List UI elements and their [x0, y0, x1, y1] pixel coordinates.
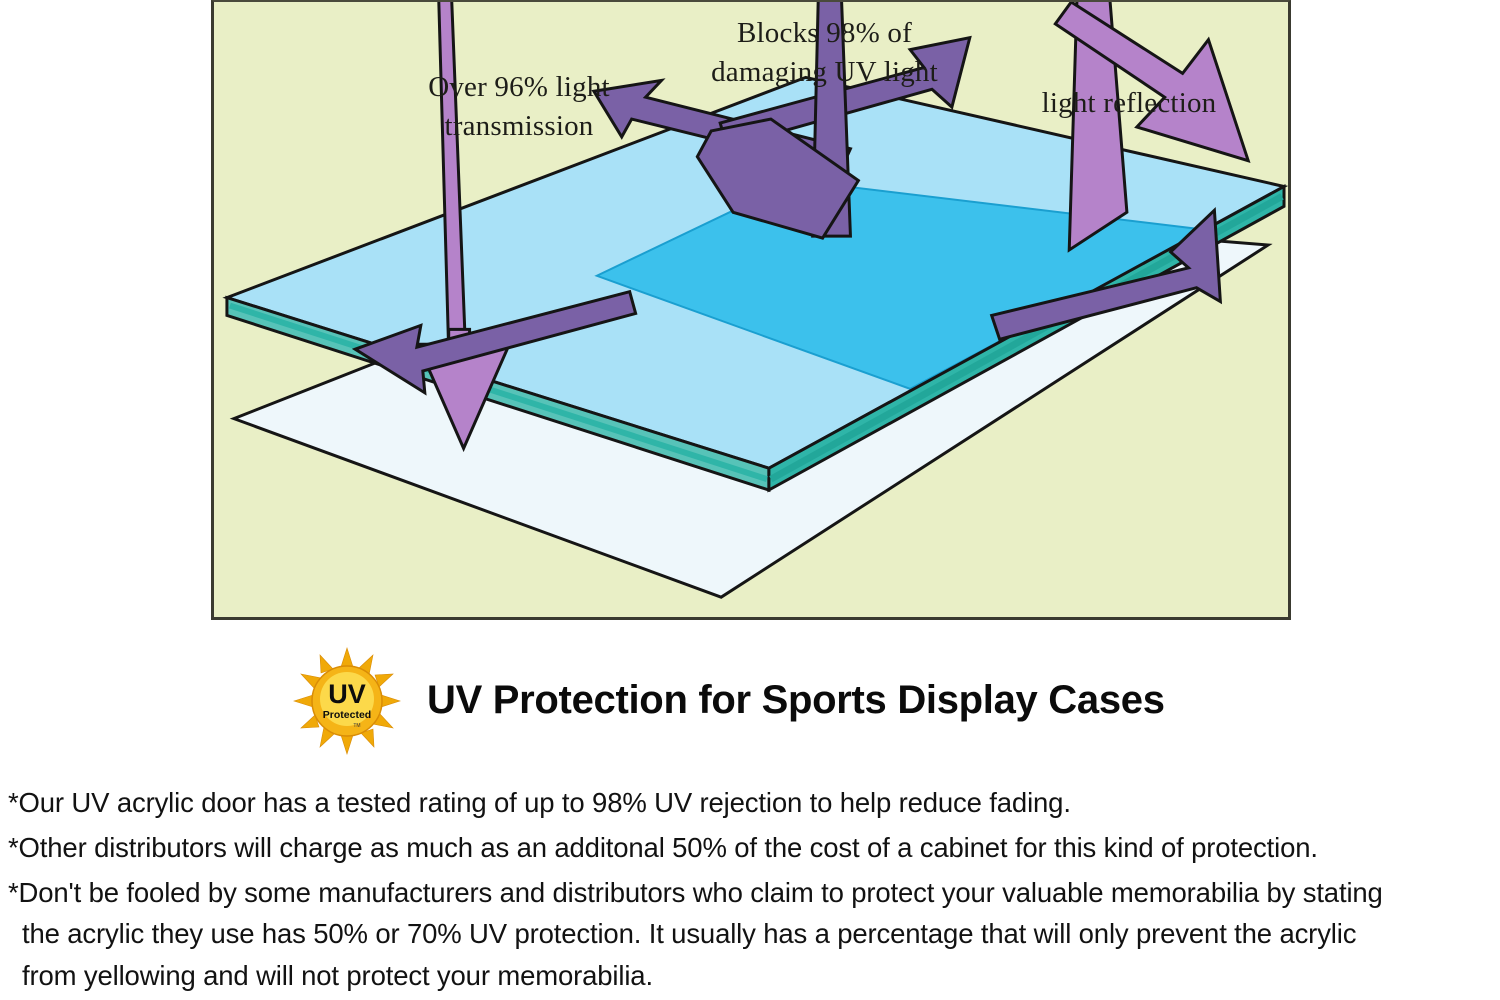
callout-light-transmission: Over 96% light transmission [394, 68, 644, 146]
uv-protected-sun-badge: UV Protected TM [293, 647, 401, 755]
disclaimer-notes: *Our UV acrylic door has a tested rating… [8, 782, 1498, 1000]
uv-badge-bottom-text: Protected [323, 709, 371, 721]
uv-badge-tm-text: TM [353, 723, 360, 729]
note-line: the acrylic they use has 50% or 70% UV p… [8, 913, 1498, 955]
page-title: UV Protection for Sports Display Cases [427, 678, 1165, 723]
note-line: from yellowing and will not protect your… [8, 955, 1498, 997]
uv-diagram-panel: Over 96% light transmission Blocks 98% o… [211, 0, 1291, 620]
title-row: UV Protected TM UV Protection for Sports… [293, 643, 1165, 758]
note-paragraph: *Don't be fooled by some manufacturers a… [8, 872, 1498, 997]
note-paragraph: *Our UV acrylic door has a tested rating… [8, 782, 1498, 824]
uv-badge-top-text: UV [328, 679, 366, 709]
note-line: *Other distributors will charge as much … [8, 832, 1318, 863]
sun-icon: UV Protected TM [293, 647, 401, 755]
note-paragraph: *Other distributors will charge as much … [8, 827, 1498, 869]
callout-light-reflection: light reflection [994, 84, 1264, 123]
callout-uv-blocking: Blocks 98% of damaging UV light [687, 14, 962, 92]
note-line: *Our UV acrylic door has a tested rating… [8, 787, 1071, 818]
note-line: *Don't be fooled by some manufacturers a… [8, 877, 1383, 908]
